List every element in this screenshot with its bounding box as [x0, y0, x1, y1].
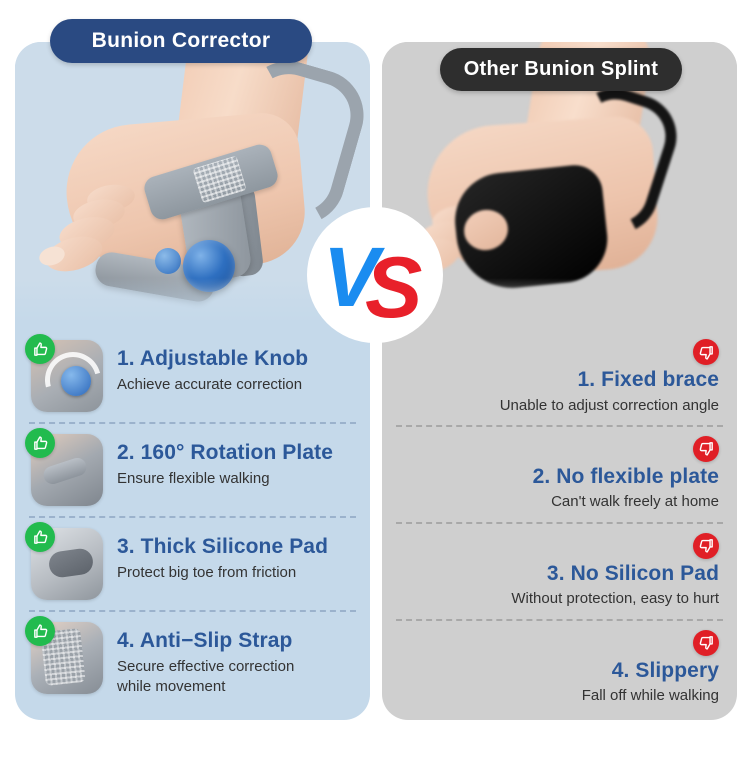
- comparison-infographic: 1. Adjustable Knob Achieve accurate corr…: [0, 0, 750, 762]
- feature-item: 3. Thick Silicone Pad Protect big toe fr…: [29, 518, 356, 612]
- feature-subtitle: Protect big toe from friction: [117, 563, 354, 583]
- bunion-corrector-panel: 1. Adjustable Knob Achieve accurate corr…: [15, 42, 370, 720]
- feature-item: 3. No Silicon Pad Without protection, ea…: [396, 524, 723, 621]
- feature-subtitle: Without protection, easy to hurt: [396, 589, 719, 609]
- other-splint-feature-list: 1. Fixed brace Unable to adjust correcti…: [382, 330, 737, 715]
- feature-subtitle: Ensure flexible walking: [117, 469, 354, 489]
- feature-item: 2. 160° Rotation Plate Ensure flexible w…: [29, 424, 356, 518]
- feature-subtitle: Achieve accurate correction: [117, 375, 354, 395]
- thumbs-down-icon: [693, 339, 719, 365]
- feature-title: 2. No flexible plate: [396, 464, 719, 490]
- other-splint-panel: 1. Fixed brace Unable to adjust correcti…: [382, 42, 737, 720]
- secondary-knob-shape: [155, 248, 181, 274]
- feature-title: 4. Anti−Slip Strap: [117, 628, 354, 654]
- feature-item: 4. Slippery Fall off while walking: [396, 621, 723, 716]
- feature-thumbnail: [31, 434, 103, 506]
- corrector-feature-list: 1. Adjustable Knob Achieve accurate corr…: [15, 330, 370, 707]
- feature-title: 3. Thick Silicone Pad: [117, 534, 354, 560]
- feature-thumbnail: [31, 622, 103, 694]
- feature-subtitle: Can't walk freely at home: [396, 492, 719, 512]
- feature-title: 3. No Silicon Pad: [396, 561, 719, 587]
- feature-title: 1. Fixed brace: [396, 367, 719, 393]
- feature-thumbnail: [31, 340, 103, 412]
- feature-thumbnail: [31, 528, 103, 600]
- vs-letter-s: S: [365, 245, 422, 331]
- feature-item: 1. Fixed brace Unable to adjust correcti…: [396, 330, 723, 427]
- thumbs-up-icon: [25, 616, 55, 646]
- feature-item: 1. Adjustable Knob Achieve accurate corr…: [29, 330, 356, 424]
- thumbs-down-icon: [693, 533, 719, 559]
- thumbs-up-icon: [25, 428, 55, 458]
- thumbs-up-icon: [25, 334, 55, 364]
- thumbs-down-icon: [693, 630, 719, 656]
- thumbs-down-icon: [693, 436, 719, 462]
- feature-subtitle: Unable to adjust correction angle: [396, 396, 719, 416]
- vs-badge: V S: [307, 207, 443, 343]
- feature-item: 4. Anti−Slip Strap Secure effective corr…: [29, 612, 356, 707]
- feature-subtitle: Fall off while walking: [396, 686, 719, 706]
- left-product-badge: Bunion Corrector: [50, 19, 312, 63]
- right-product-badge: Other Bunion Splint: [440, 48, 682, 91]
- thumbs-up-icon: [25, 522, 55, 552]
- feature-title: 4. Slippery: [396, 658, 719, 684]
- feature-title: 2. 160° Rotation Plate: [117, 440, 354, 466]
- feature-item: 2. No flexible plate Can't walk freely a…: [396, 427, 723, 524]
- feature-subtitle: Secure effective correction while moveme…: [117, 657, 354, 698]
- feature-title: 1. Adjustable Knob: [117, 346, 354, 372]
